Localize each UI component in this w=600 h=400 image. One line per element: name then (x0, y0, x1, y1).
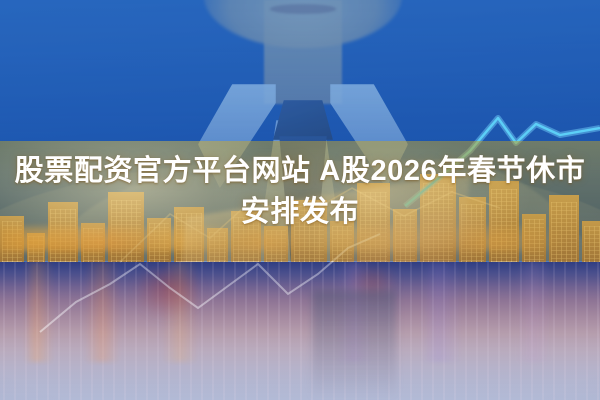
headline-text: 股票配资官方平台网站 A股2026年春节休市安排发布 (14, 151, 586, 233)
headline-container: 股票配资官方平台网站 A股2026年春节休市安排发布 (0, 151, 600, 233)
news-banner: 股票配资官方平台网站 A股2026年春节休市安排发布 (0, 0, 600, 400)
